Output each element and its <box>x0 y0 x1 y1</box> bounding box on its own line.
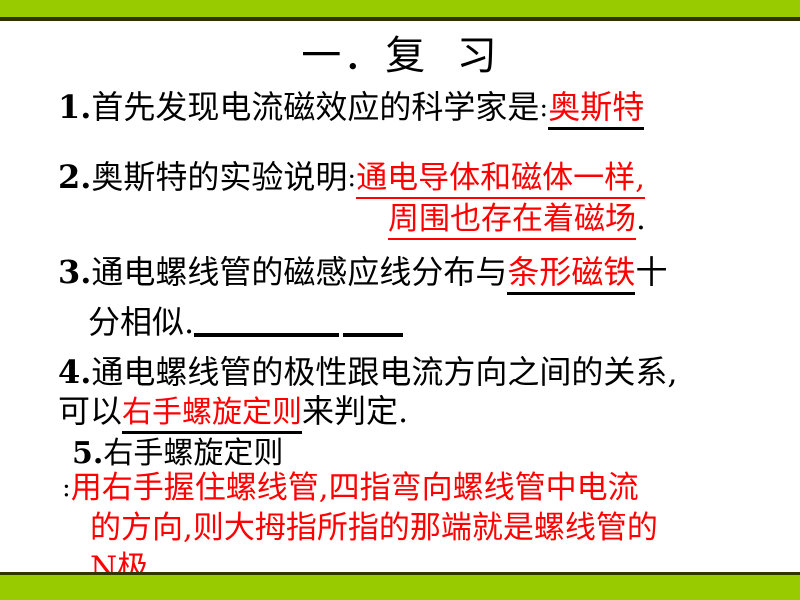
bottom-accent-bar <box>0 575 800 600</box>
item-4-answer: 右手螺旋定则 <box>122 395 302 434</box>
top-accent-bar <box>0 0 800 17</box>
slide-content: 一．复 习 1.首先发现电流磁效应的科学家是:奥斯特 2.奥斯特的实验说明:通电… <box>0 21 800 572</box>
item-3-question-part-1: 通电螺线管的磁感应线分布与 <box>91 253 507 291</box>
item-3-answer: 条形磁铁 <box>507 253 635 295</box>
item-3-blank-rule <box>194 333 339 337</box>
item-1-question: 首先发现电流磁效应的科学家是 <box>91 88 539 126</box>
item-2-question: 奥斯特的实验说明 <box>91 158 347 196</box>
item-5-answer-line-1: 用右手握住螺线管,四指弯向螺线管中电流 <box>71 470 639 506</box>
item-2-number: 2. <box>58 158 91 196</box>
item-4-question-part-3: 来判定. <box>302 392 408 430</box>
item-2-answer-line-2: 周围也存在着磁场 <box>388 201 636 240</box>
item-3-question-part-3: 分相似. <box>88 303 194 341</box>
item-2-colon: : <box>347 163 356 193</box>
item-5-answer-row-2: 的方向,则大拇指所指的那端就是螺线管的 <box>90 513 658 544</box>
item-1: 1.首先发现电流磁效应的科学家是:奥斯特 <box>58 91 644 123</box>
page-title: 一．复 习 <box>0 36 800 76</box>
slide-canvas: 一．复 习 1.首先发现电流磁效应的科学家是:奥斯特 2.奥斯特的实验说明:通电… <box>0 0 800 600</box>
item-3-question-part-2: 十 <box>635 253 667 291</box>
item-1-colon: : <box>539 93 548 123</box>
item-3: 3.通电螺线管的磁感应线分布与条形磁铁十 <box>58 256 667 288</box>
item-5-answer-row-1: :用右手握住螺线管,四指弯向螺线管中电流 <box>62 473 639 504</box>
item-4-question-part-1: 通电螺线管的极性跟电流方向之间的关系, <box>91 353 677 391</box>
item-4-question-part-2: 可以 <box>58 392 122 430</box>
item-2: 2.奥斯特的实验说明:通电导体和磁体一样, <box>58 161 645 194</box>
item-2-answer-line-1: 通电导体和磁体一样, <box>356 160 645 199</box>
item-4-continuation: 可以右手螺旋定则来判定. <box>58 395 408 428</box>
item-3-blank-rule-extra <box>343 333 403 337</box>
item-3-continuation: 分相似. <box>88 306 403 338</box>
item-5-answer-line-2: 的方向,则大拇指所指的那端就是螺线管的 <box>90 510 658 546</box>
item-1-answer: 奥斯特 <box>548 88 644 130</box>
item-4: 4.通电螺线管的极性跟电流方向之间的关系, <box>58 356 678 388</box>
item-5: 5.右手螺旋定则 <box>72 439 283 469</box>
item-4-number: 4. <box>58 353 91 391</box>
item-5-number: 5. <box>72 436 103 471</box>
item-3-number: 3. <box>58 253 91 291</box>
item-2-answer-tail: . <box>636 201 646 237</box>
item-5-question: 右手螺旋定则 <box>103 436 283 471</box>
item-5-colon: : <box>62 473 71 503</box>
item-1-number: 1. <box>58 88 91 126</box>
item-2-continuation: 周围也存在着磁场. <box>388 204 646 235</box>
